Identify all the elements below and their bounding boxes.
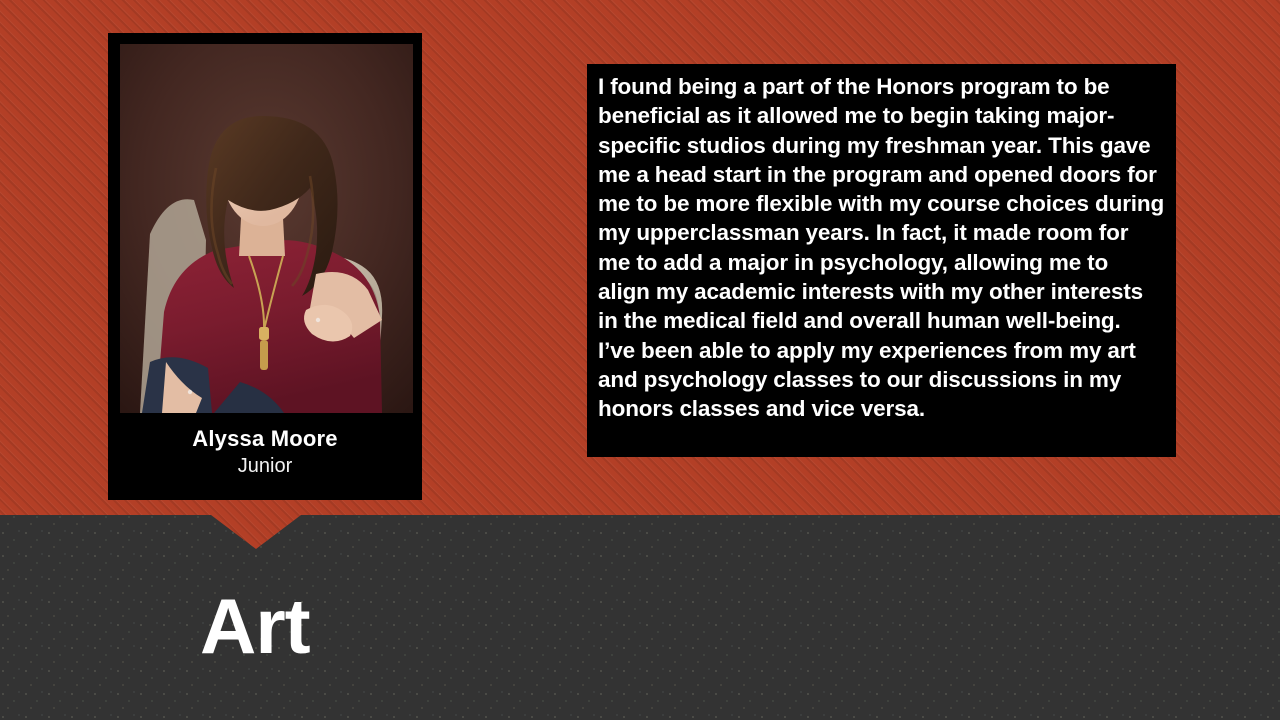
profile-photo [120,44,413,413]
quote-box: I found being a part of the Honors progr… [587,64,1176,457]
profile-name: Alyssa Moore [108,425,422,453]
slide-canvas: Alyssa Moore Junior I found being a part… [0,0,1280,720]
quote-text: I found being a part of the Honors progr… [598,72,1165,424]
portrait-illustration [120,44,413,413]
section-title: Art [200,583,310,669]
profile-card: Alyssa Moore Junior [108,33,422,500]
profile-year: Junior [108,453,422,480]
profile-caption: Alyssa Moore Junior [108,425,422,480]
